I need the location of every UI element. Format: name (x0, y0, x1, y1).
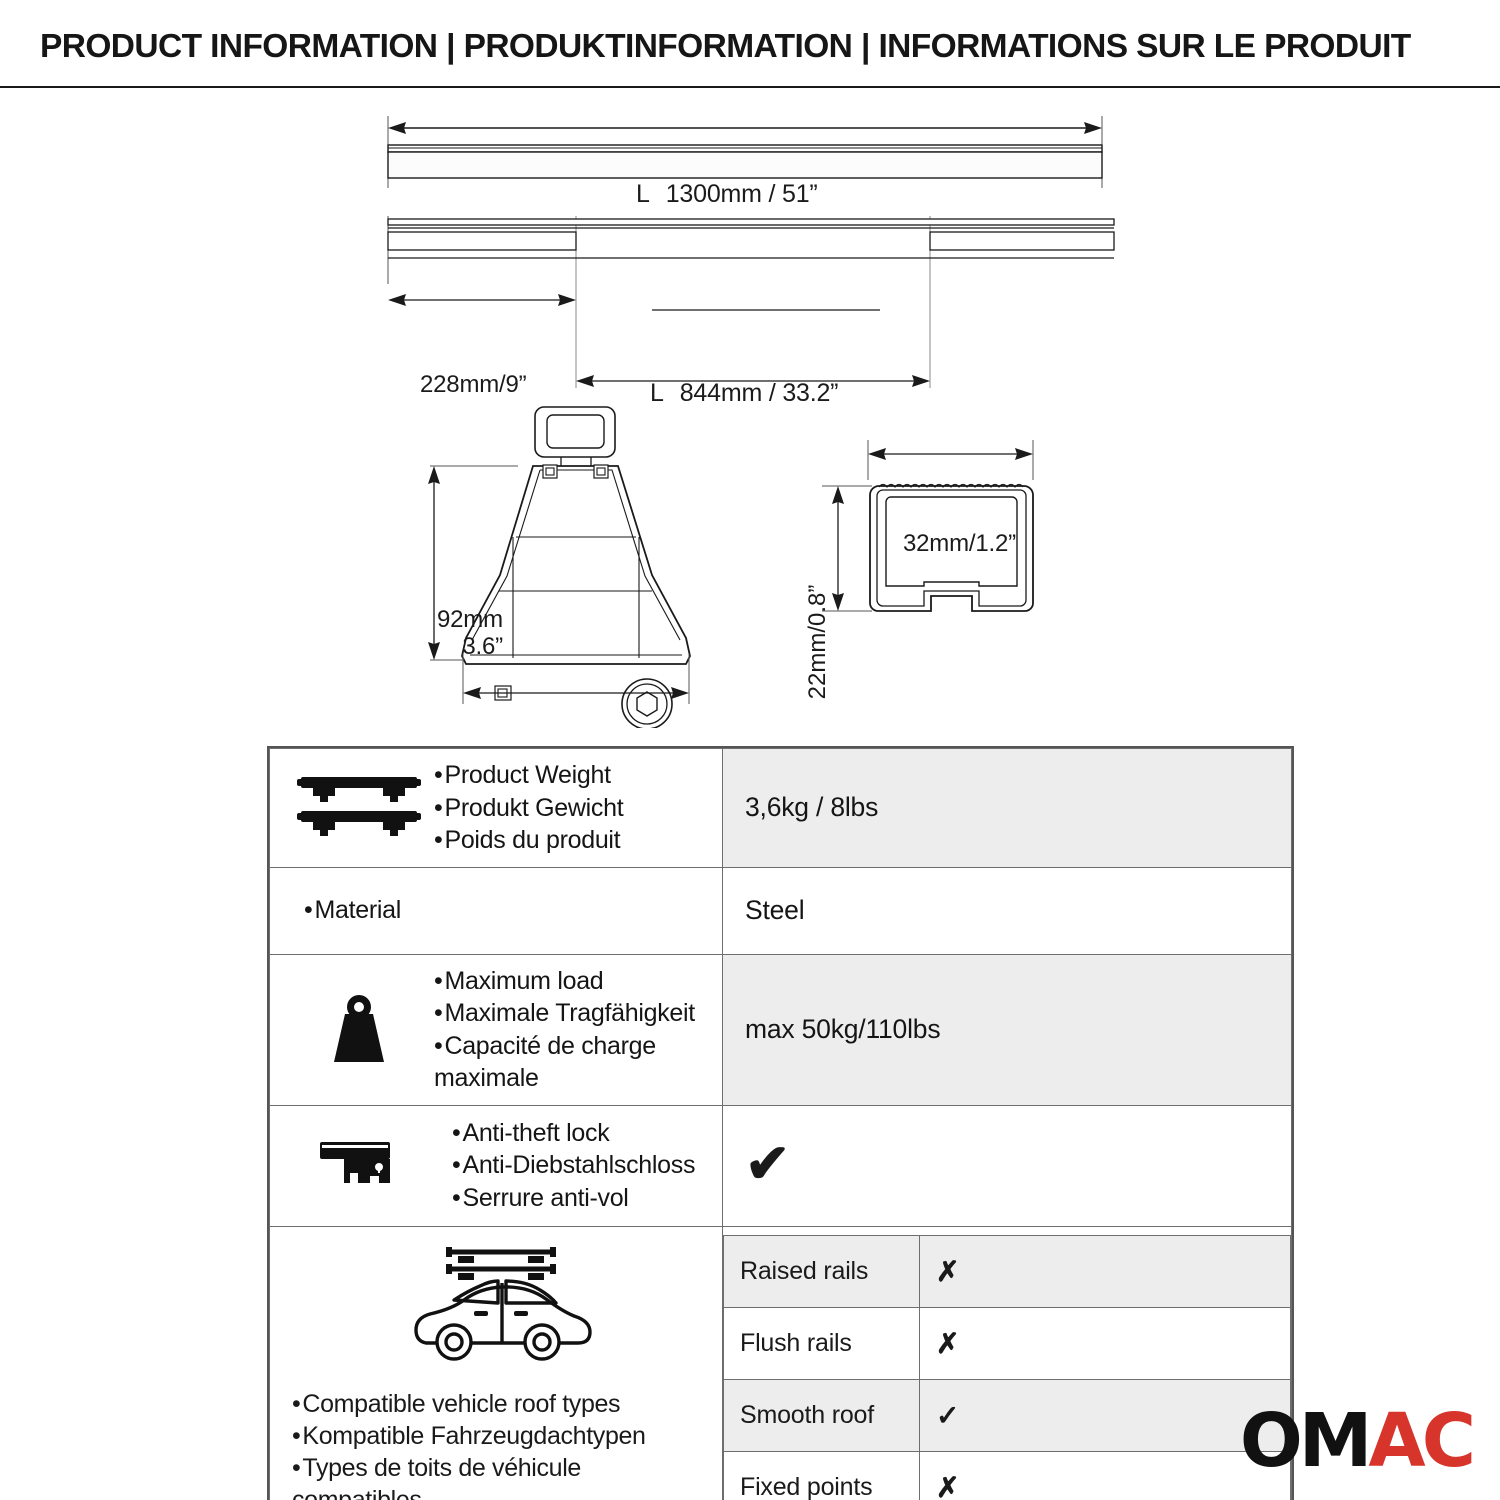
spec-label-line: Maximale Tragfähigkeit (434, 997, 716, 1030)
spec-label-line: Maximum load (434, 965, 716, 998)
dimension-label-offset: 228mm/9” (420, 371, 526, 399)
spec-label-cell: Anti-theft lock Anti-Diebstahlschloss Se… (270, 1105, 723, 1226)
spec-value-cell: 3,6kg / 8lbs (723, 749, 1292, 868)
roof-type-mark: ✗ (920, 1235, 1291, 1307)
dimension-label-profile-width: 32mm/1.2” (903, 530, 1016, 558)
length-mark: L (636, 180, 650, 208)
material-value: Steel (723, 885, 1291, 936)
length-value: 1300mm / 51” (666, 180, 818, 208)
spec-label-line: Anti-Diebstahlschloss (452, 1149, 716, 1182)
omac-logo: OMAC (1240, 1404, 1472, 1478)
spec-label-line: Poids du produit (434, 824, 716, 857)
spec-label-cell: Maximum load Maximale Tragfähigkeit Capa… (270, 954, 723, 1105)
spec-label-texts: Material (304, 894, 716, 927)
spec-value-cell: Steel (723, 867, 1292, 954)
spec-label-texts: Product Weight Produkt Gewicht Poids du … (434, 759, 716, 857)
spec-label-cell: Material (270, 867, 723, 954)
spec-label-texts: Anti-theft lock Anti-Diebstahlschloss Se… (434, 1117, 716, 1215)
foot-height-mm: 92mm (437, 607, 503, 634)
car-with-rack-icon (402, 1243, 592, 1376)
spec-label-line: Anti-theft lock (452, 1117, 716, 1150)
crossbars-icon (284, 775, 434, 841)
span-mark: L (650, 379, 664, 407)
roof-type-mark: ✓ (920, 1379, 1291, 1451)
max-load-value: max 50kg/110lbs (723, 1004, 1291, 1055)
product-weight-value: 3,6kg / 8lbs (723, 782, 1291, 833)
technical-drawing: L1300mm / 51” 228mm/9” L844mm / 33.2” 92… (0, 88, 1500, 728)
spec-label-line: Capacité de charge maximale (434, 1030, 716, 1095)
roof-type-mark: ✗ (920, 1307, 1291, 1379)
table-row: Material Steel (270, 867, 1292, 954)
spec-label-line: Serrure anti-vol (452, 1182, 716, 1215)
omac-logo-red: AC (1368, 1398, 1472, 1484)
page-title: PRODUCT INFORMATION | PRODUKTINFORMATION… (40, 28, 1470, 66)
dimension-label-length: L1300mm / 51” (636, 180, 818, 209)
dimension-label-profile-height: 22mm/0.8” (804, 572, 832, 712)
roof-type-row: Smooth roof ✓ (724, 1379, 1291, 1451)
lock-icon (284, 1136, 434, 1196)
spec-label-line: Produkt Gewicht (434, 792, 716, 825)
roof-types-label-line: Compatible vehicle roof types (292, 1388, 714, 1420)
spec-label-line: Product Weight (434, 759, 716, 792)
roof-types-value-cell: Raised rails ✗ Flush rails ✗ Smooth roof… (723, 1226, 1292, 1500)
roof-type-row: Fixed points ✗ (724, 1451, 1291, 1500)
product-information-page: PRODUCT INFORMATION | PRODUKTINFORMATION… (0, 0, 1500, 1500)
roof-type-name: Smooth roof (724, 1379, 920, 1451)
roof-types-label-line: Kompatible Fahrzeugdachtypen (292, 1420, 714, 1452)
roof-type-row: Flush rails ✗ (724, 1307, 1291, 1379)
roof-type-mark: ✗ (920, 1451, 1291, 1500)
spec-label-texts: Maximum load Maximale Tragfähigkeit Capa… (434, 965, 716, 1095)
roof-type-name: Fixed points (724, 1451, 920, 1500)
roof-types-label-cell: Compatible vehicle roof types Kompatible… (270, 1226, 723, 1500)
spec-table: Product Weight Produkt Gewicht Poids du … (267, 746, 1294, 1500)
roof-types-label-line: Types de toits de véhicule compatibles (292, 1452, 714, 1500)
foot-height-in: 3.6” (437, 634, 503, 661)
span-value: 844mm / 33.2” (680, 379, 839, 407)
table-row: Maximum load Maximale Tragfähigkeit Capa… (270, 954, 1292, 1105)
spec-label-line: Material (304, 894, 716, 927)
table-row: Compatible vehicle roof types Kompatible… (270, 1226, 1292, 1500)
weight-icon (284, 992, 434, 1068)
spec-label-cell: Product Weight Produkt Gewicht Poids du … (270, 749, 723, 868)
roof-type-name: Raised rails (724, 1235, 920, 1307)
roof-type-row: Raised rails ✗ (724, 1235, 1291, 1307)
spec-value-cell: max 50kg/110lbs (723, 954, 1292, 1105)
roof-types-label-texts: Compatible vehicle roof types Kompatible… (280, 1388, 714, 1500)
table-row: Anti-theft lock Anti-Diebstahlschloss Se… (270, 1105, 1292, 1226)
omac-logo-black: OM (1240, 1398, 1369, 1484)
table-row: Product Weight Produkt Gewicht Poids du … (270, 749, 1292, 868)
dimension-label-profile-height-wrap: 22mm/0.8” (800, 568, 834, 708)
anti-theft-check-icon: ✔ (723, 1131, 1291, 1201)
roof-types-table: Raised rails ✗ Flush rails ✗ Smooth roof… (723, 1235, 1291, 1500)
dimension-label-foot-height: 92mm 3.6” (437, 607, 503, 661)
roof-type-name: Flush rails (724, 1307, 920, 1379)
spec-value-cell: ✔ (723, 1105, 1292, 1226)
dimension-label-span: L844mm / 33.2” (650, 379, 838, 408)
